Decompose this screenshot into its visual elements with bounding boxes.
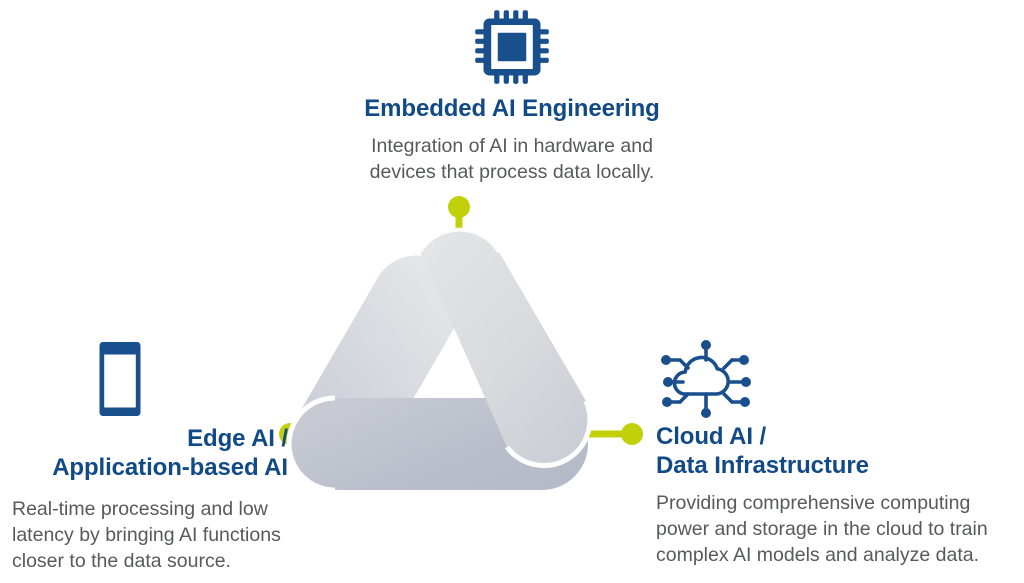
smartphone-icon	[98, 340, 142, 418]
node-title: Cloud AI / Data Infrastructure	[656, 422, 1024, 480]
diagram-canvas: Embedded AI Engineering Integration of A…	[0, 0, 1024, 583]
cloud-network-icon-wrap	[656, 336, 1024, 422]
chip-icon-wrap	[256, 6, 768, 88]
node-description: Providing comprehensive computing power …	[656, 490, 1024, 568]
smartphone-icon-wrap	[0, 336, 288, 422]
node-cloud-ai-data-infrastructure: Cloud AI / Data Infrastructure Providing…	[656, 336, 1024, 568]
node-title: Embedded AI Engineering	[256, 94, 768, 123]
node-edge-ai-application-based-ai: Edge AI / Application-based AI Real-time…	[0, 336, 288, 574]
chip-icon	[474, 9, 550, 85]
node-description: Real-time processing and low latency by …	[0, 496, 288, 574]
connector-right	[584, 423, 643, 445]
node-embedded-ai-engineering: Embedded AI Engineering Integration of A…	[256, 6, 768, 185]
cloud-network-icon	[658, 338, 754, 420]
node-title: Edge AI / Application-based AI	[0, 424, 288, 482]
trefoil-triangle-shape	[289, 230, 590, 490]
node-description: Integration of AI in hardware and device…	[256, 133, 768, 185]
